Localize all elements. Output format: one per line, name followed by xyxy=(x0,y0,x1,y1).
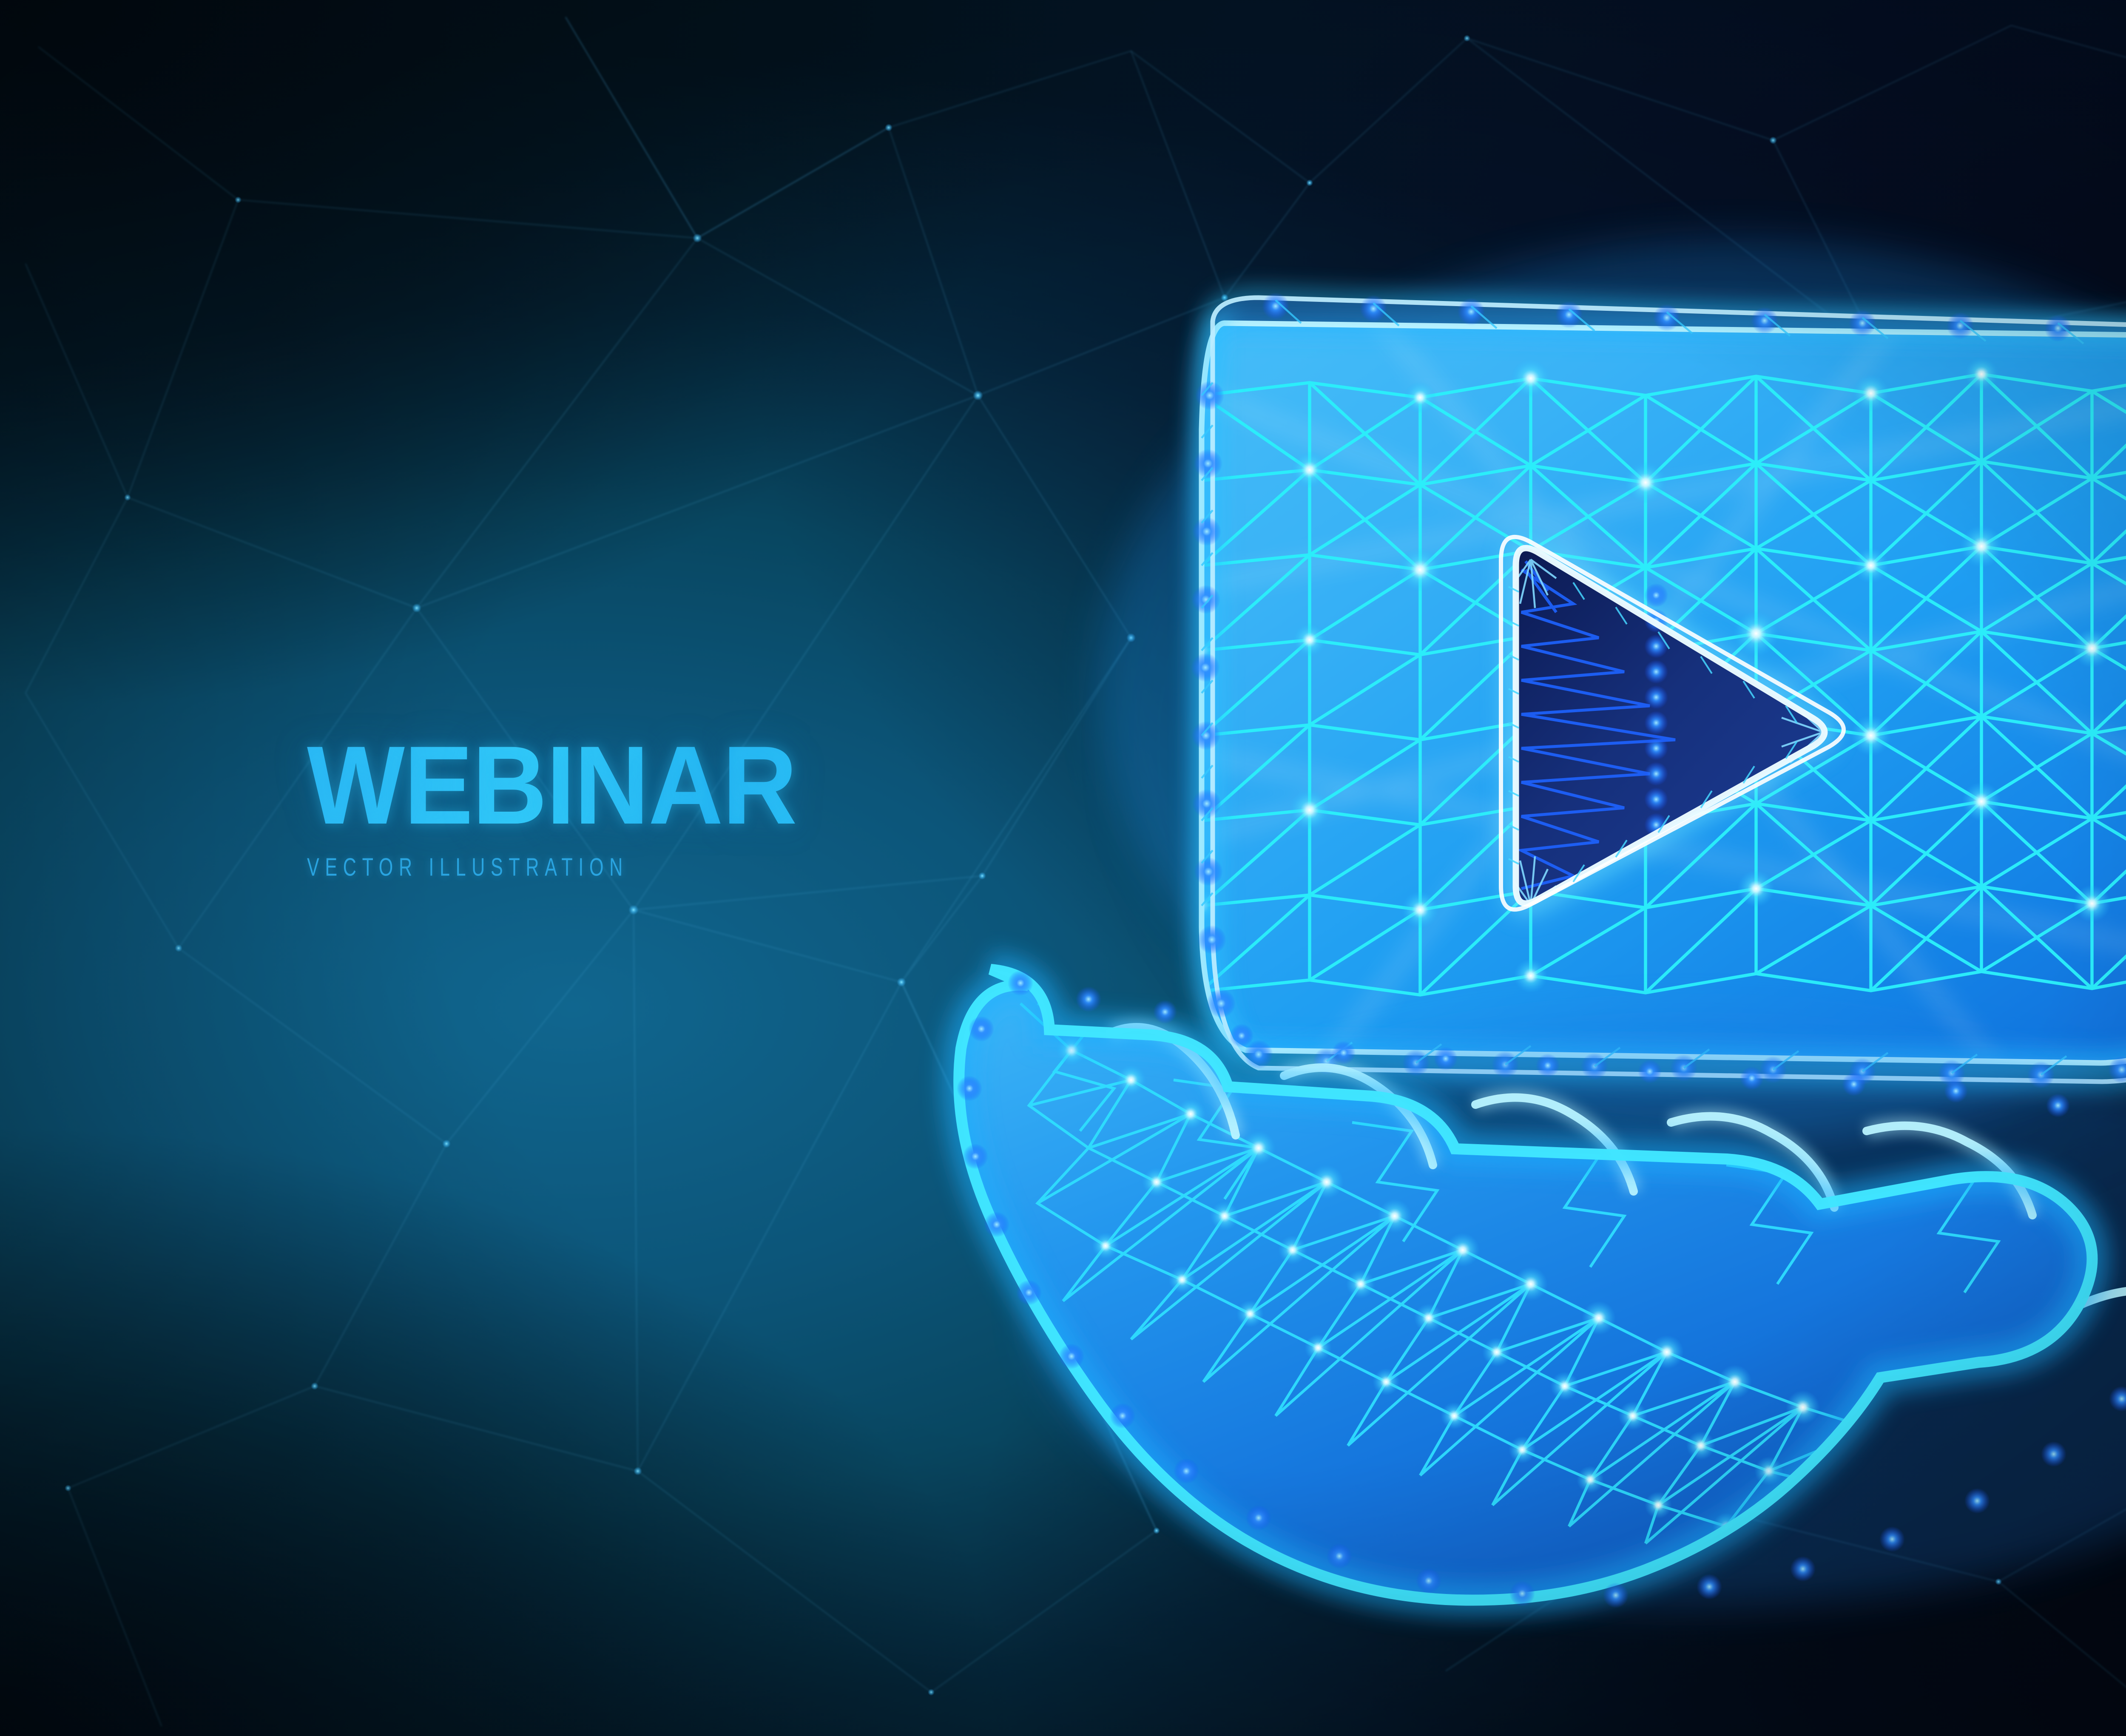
headline-block: WEBINAR VECTOR ILLUSTRATION xyxy=(307,741,945,879)
page-subtitle: VECTOR ILLUSTRATION xyxy=(307,852,868,881)
page-title: WEBINAR xyxy=(307,741,900,830)
illustration-canvas: WEBINAR VECTOR ILLUSTRATION xyxy=(0,0,2126,1736)
